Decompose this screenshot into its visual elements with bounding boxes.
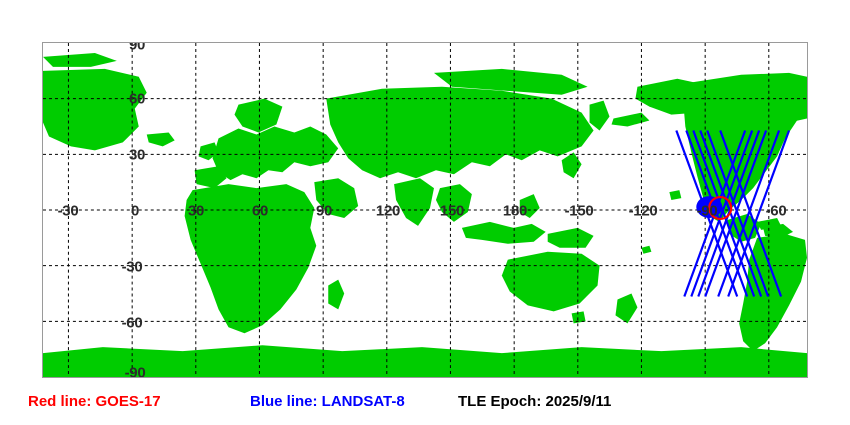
land-aleutians	[612, 113, 650, 127]
land-indonesia	[462, 222, 546, 244]
land-iceland	[147, 132, 175, 146]
land-madagascar	[328, 280, 344, 310]
land-greenland	[43, 69, 147, 151]
land-europe	[213, 127, 339, 181]
land-new-guinea	[548, 228, 594, 248]
land-arctic-islands	[43, 53, 117, 67]
land-australia	[502, 252, 600, 312]
legend-red-line: Red line: GOES-17	[28, 392, 161, 412]
land-kamchatka	[590, 101, 610, 131]
legend-tle-epoch: TLE Epoch: 2025/9/11	[458, 392, 611, 412]
legend-blue-line: Blue line: LANDSAT-8	[250, 392, 405, 412]
land-africa	[185, 184, 317, 333]
land-hawaii	[669, 190, 681, 200]
landmass-layer	[43, 53, 807, 377]
land-arabia	[314, 178, 358, 218]
land-japan	[562, 152, 582, 178]
land-antarctica	[43, 345, 807, 377]
legend-bar: Red line: GOES-17 Blue line: LANDSAT-8 T…	[0, 392, 850, 420]
land-pacific-islands	[641, 246, 651, 254]
land-new-zealand	[616, 294, 638, 324]
land-south-america	[739, 234, 807, 351]
land-se-asia	[436, 184, 472, 222]
world-map-svg	[43, 43, 807, 377]
world-map-panel: -30 0 30 60 90 120 150 180 -150 -120 -90…	[42, 42, 808, 378]
land-philippines	[520, 194, 540, 218]
land-india	[394, 178, 434, 226]
land-asia	[326, 87, 593, 178]
